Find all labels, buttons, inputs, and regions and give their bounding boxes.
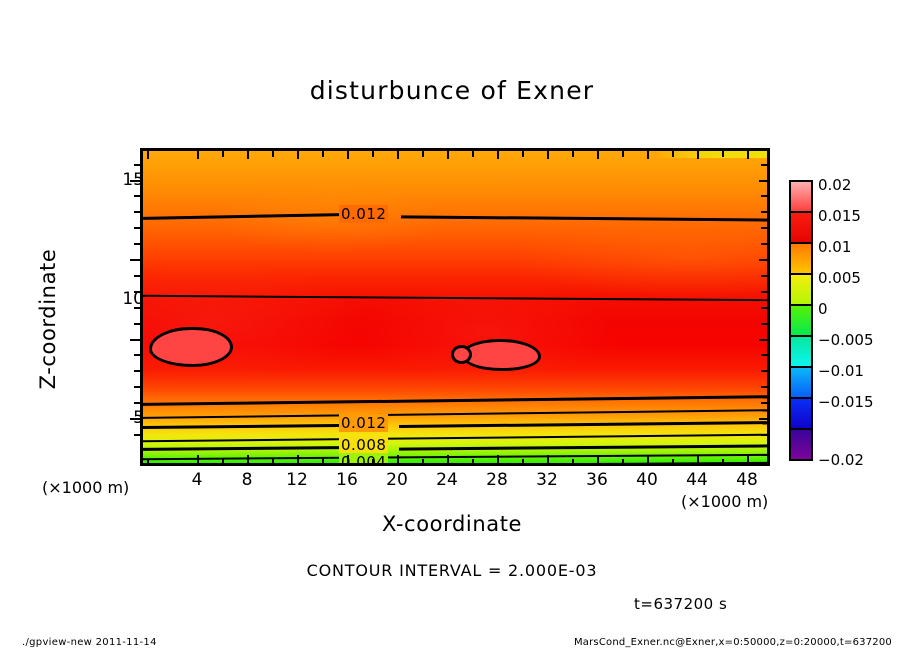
y-tick-label: 10 (122, 289, 144, 309)
x-tick-top (147, 148, 149, 159)
x-tick-top (722, 148, 724, 157)
footer-command: ./gpview-new 2011-11-14 (22, 637, 157, 648)
x-axis-unit: (×1000 m) (681, 492, 768, 511)
colorbar-tick-label: 0.02 (818, 176, 851, 194)
x-tick-minor (222, 459, 224, 466)
x-tick-major (647, 455, 649, 466)
x-tick-major (447, 455, 449, 466)
colorbar-segment (791, 244, 811, 275)
figure-canvas: disturbunce of Exner (0, 0, 904, 654)
x-tick-minor (672, 459, 674, 466)
y-tick-minor (134, 243, 140, 245)
colorbar-segment (791, 399, 811, 430)
x-tick-top (322, 148, 324, 157)
y-tick-right (761, 307, 770, 309)
x-tick-major (597, 455, 599, 466)
x-tick-top (397, 148, 399, 159)
time-stamp: t=637200 s (634, 595, 727, 613)
y-tick-right (761, 370, 770, 372)
x-tick-major (397, 455, 399, 466)
x-tick-minor (472, 459, 474, 466)
x-tick-major (547, 455, 549, 466)
y-tick-label: 5 (122, 408, 144, 428)
y-tick-label: 15 (122, 170, 144, 190)
x-tick-label: 44 (686, 470, 708, 490)
x-tick-label: 40 (636, 470, 658, 490)
closed-contour-max-left (149, 327, 233, 367)
colorbar-tick-label: −0.015 (818, 393, 874, 411)
y-tick-minor (134, 370, 140, 372)
x-tick-label: 8 (242, 470, 253, 490)
page-title: disturbunce of Exner (0, 76, 904, 105)
x-tick-label: 48 (736, 470, 758, 490)
x-tick-major (497, 455, 499, 466)
x-tick-top (522, 148, 524, 157)
y-tick-right (759, 180, 770, 182)
x-tick-top (497, 148, 499, 159)
colorbar-segment (791, 430, 811, 459)
colorbar (789, 180, 813, 461)
x-tick-label: 4 (192, 470, 203, 490)
y-tick-minor (134, 164, 140, 166)
contour-label-0008: 0.008 (339, 438, 388, 453)
y-tick-right (761, 195, 770, 197)
x-tick-major (197, 455, 199, 466)
x-tick-top (347, 148, 349, 159)
colorbar-segment (791, 213, 811, 244)
colorbar-segment (791, 182, 811, 213)
contour-line-0004-left (143, 463, 339, 466)
x-tick-minor (722, 459, 724, 466)
x-tick-minor (322, 459, 324, 466)
colorbar-tick-label: 0.01 (818, 238, 851, 256)
x-tick-major (297, 455, 299, 466)
y-tick-right (761, 323, 770, 325)
x-tick-minor (572, 459, 574, 466)
x-tick-top (622, 148, 624, 157)
y-tick-right (761, 434, 770, 436)
y-tick-major (130, 339, 140, 341)
x-tick-top (547, 148, 549, 159)
colorbar-tick-label: 0.005 (818, 269, 861, 287)
y-tick-minor (134, 211, 140, 213)
x-axis-title: X-coordinate (0, 512, 904, 536)
colorbar-segment (791, 306, 811, 337)
footer-dataset: MarsCond_Exner.nc@Exner,x=0:50000,z=0:20… (574, 637, 892, 648)
colorbar-segment (791, 275, 811, 306)
y-tick-right (759, 259, 770, 261)
y-tick-minor (134, 402, 140, 404)
y-tick-right (761, 354, 770, 356)
x-tick-top (697, 148, 699, 159)
x-tick-top (747, 148, 749, 159)
x-tick-label: 32 (536, 470, 558, 490)
colorbar-segment (791, 368, 811, 399)
z-axis-unit: (×1000 m) (42, 478, 129, 497)
x-tick-top (222, 148, 224, 157)
x-tick-top (572, 148, 574, 157)
y-tick-right (761, 386, 770, 388)
colorbar-tick-label: −0.02 (818, 451, 864, 469)
x-tick-top (197, 148, 199, 159)
x-tick-label: 12 (286, 470, 308, 490)
x-tick-minor (147, 459, 149, 466)
colorbar-segment (791, 337, 811, 368)
x-tick-minor (622, 459, 624, 466)
x-tick-top (372, 148, 374, 157)
closed-contour-max-right (461, 339, 541, 371)
y-tick-right (761, 211, 770, 213)
colorbar-tick-label: 0 (818, 300, 828, 318)
y-tick-minor (134, 354, 140, 356)
x-tick-minor (422, 459, 424, 466)
contour-label-0012-upper: 0.012 (339, 207, 388, 222)
y-tick-minor (134, 386, 140, 388)
x-tick-top (422, 148, 424, 157)
y-tick-minor (134, 195, 140, 197)
x-tick-major (747, 455, 749, 466)
y-tick-right (759, 418, 770, 420)
x-tick-label: 28 (486, 470, 508, 490)
x-tick-top (297, 148, 299, 159)
y-tick-right (761, 164, 770, 166)
y-tick-minor (134, 323, 140, 325)
y-tick-right (761, 227, 770, 229)
x-tick-top (247, 148, 249, 159)
contour-interval-note: CONTOUR INTERVAL = 2.000E-03 (0, 561, 904, 580)
x-tick-label: 20 (386, 470, 408, 490)
x-tick-minor (272, 459, 274, 466)
y-tick-minor (134, 227, 140, 229)
x-tick-major (347, 455, 349, 466)
colorbar-tick-label: −0.005 (818, 331, 874, 349)
x-tick-minor (372, 459, 374, 466)
y-tick-minor (134, 275, 140, 277)
x-tick-top (447, 148, 449, 159)
y-axis-title: Z-coordinate (36, 219, 60, 419)
y-tick-right (761, 291, 770, 293)
x-tick-top (597, 148, 599, 159)
x-tick-top (672, 148, 674, 157)
closed-contour-max-right-small (451, 345, 472, 364)
x-tick-label: 24 (436, 470, 458, 490)
y-tick-right (761, 275, 770, 277)
x-tick-top (647, 148, 649, 159)
y-tick-right (761, 402, 770, 404)
contour-label-0012-lower: 0.012 (339, 416, 388, 431)
x-tick-label: 36 (586, 470, 608, 490)
x-tick-top (272, 148, 274, 157)
x-tick-minor (522, 459, 524, 466)
y-tick-major (130, 259, 140, 261)
colorbar-tick-label: 0.015 (818, 207, 861, 225)
plot-frame: 0.012 0.012 0.008 0.004 (140, 148, 770, 466)
colorbar-tick-label: −0.01 (818, 362, 864, 380)
x-tick-major (697, 455, 699, 466)
y-tick-right (761, 243, 770, 245)
x-tick-label: 16 (336, 470, 358, 490)
x-tick-major (247, 455, 249, 466)
x-tick-top (472, 148, 474, 157)
y-tick-minor (134, 434, 140, 436)
y-tick-right (759, 339, 770, 341)
plot-area: 0.012 0.012 0.008 0.004 (140, 148, 770, 466)
